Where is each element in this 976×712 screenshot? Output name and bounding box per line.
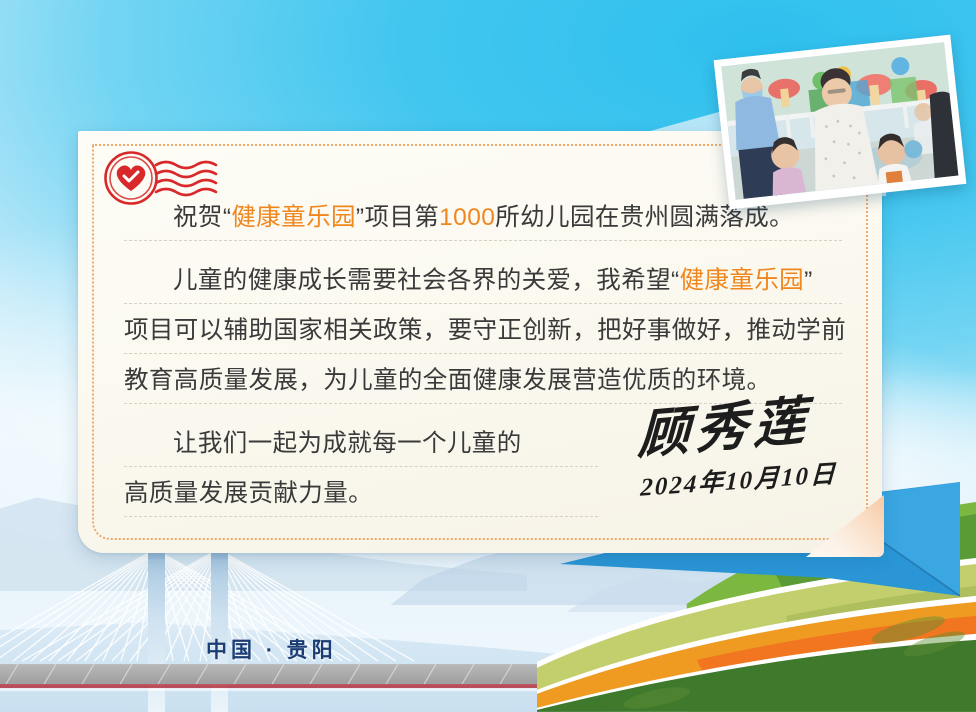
letter-paragraph: 让我们一起为成就每一个儿童的高质量发展贡献力量。 — [124, 419, 842, 519]
body-text: 项目可以辅助国家相关政策，要守正创新，把好事做好，推动学前 — [124, 317, 846, 344]
body-text: “ — [671, 267, 680, 294]
letter-line: 高质量发展贡献力量。 — [124, 469, 842, 519]
body-text: 儿童的健康成长需要社会各界的关爱，我希望 — [173, 267, 671, 294]
body-text: 高质量发展贡献力量。 — [124, 480, 373, 507]
poster-canvas: 祝贺“健康童乐园”项目第1000所幼儿园在贵州圆满落成。儿童的健康成长需要社会各… — [0, 0, 976, 712]
place-label: 中国 · 贵阳 — [206, 634, 337, 664]
letter-line: 项目可以辅助国家相关政策，要守正创新，把好事做好，推动学前 — [124, 306, 842, 356]
body-text: 祝贺 — [173, 204, 223, 231]
body-text: 项目第 — [364, 204, 439, 231]
letter-line: 教育高质量发展，为儿童的全面健康发展营造优质的环境。 — [124, 356, 842, 406]
paragraph-gap — [124, 412, 842, 419]
body-text: 让我们一起为成就每一个儿童的 — [173, 430, 522, 457]
letter-line: 儿童的健康成长需要社会各界的关爱，我希望“健康童乐园” — [124, 256, 842, 306]
letter-body-text: 祝贺“健康童乐园”项目第1000所幼儿园在贵州圆满落成。儿童的健康成长需要社会各… — [124, 193, 842, 525]
body-text: ” — [804, 267, 813, 294]
highlighted-text: 健康童乐园 — [231, 204, 356, 231]
body-text: 所幼儿园在贵州圆满落成。 — [495, 204, 794, 231]
highlighted-text: 健康童乐园 — [680, 267, 805, 294]
letter-line: 让我们一起为成就每一个儿童的 — [124, 419, 842, 469]
highlighted-text: 1000 — [439, 204, 495, 231]
photo-frame — [714, 35, 967, 210]
paragraph-gap — [124, 249, 842, 256]
playground-photo — [721, 42, 958, 199]
body-text: 教育高质量发展，为儿童的全面健康发展营造优质的环境。 — [124, 367, 771, 394]
letter-paragraph: 儿童的健康成长需要社会各界的关爱，我希望“健康童乐园”项目可以辅助国家相关政策，… — [124, 256, 842, 406]
